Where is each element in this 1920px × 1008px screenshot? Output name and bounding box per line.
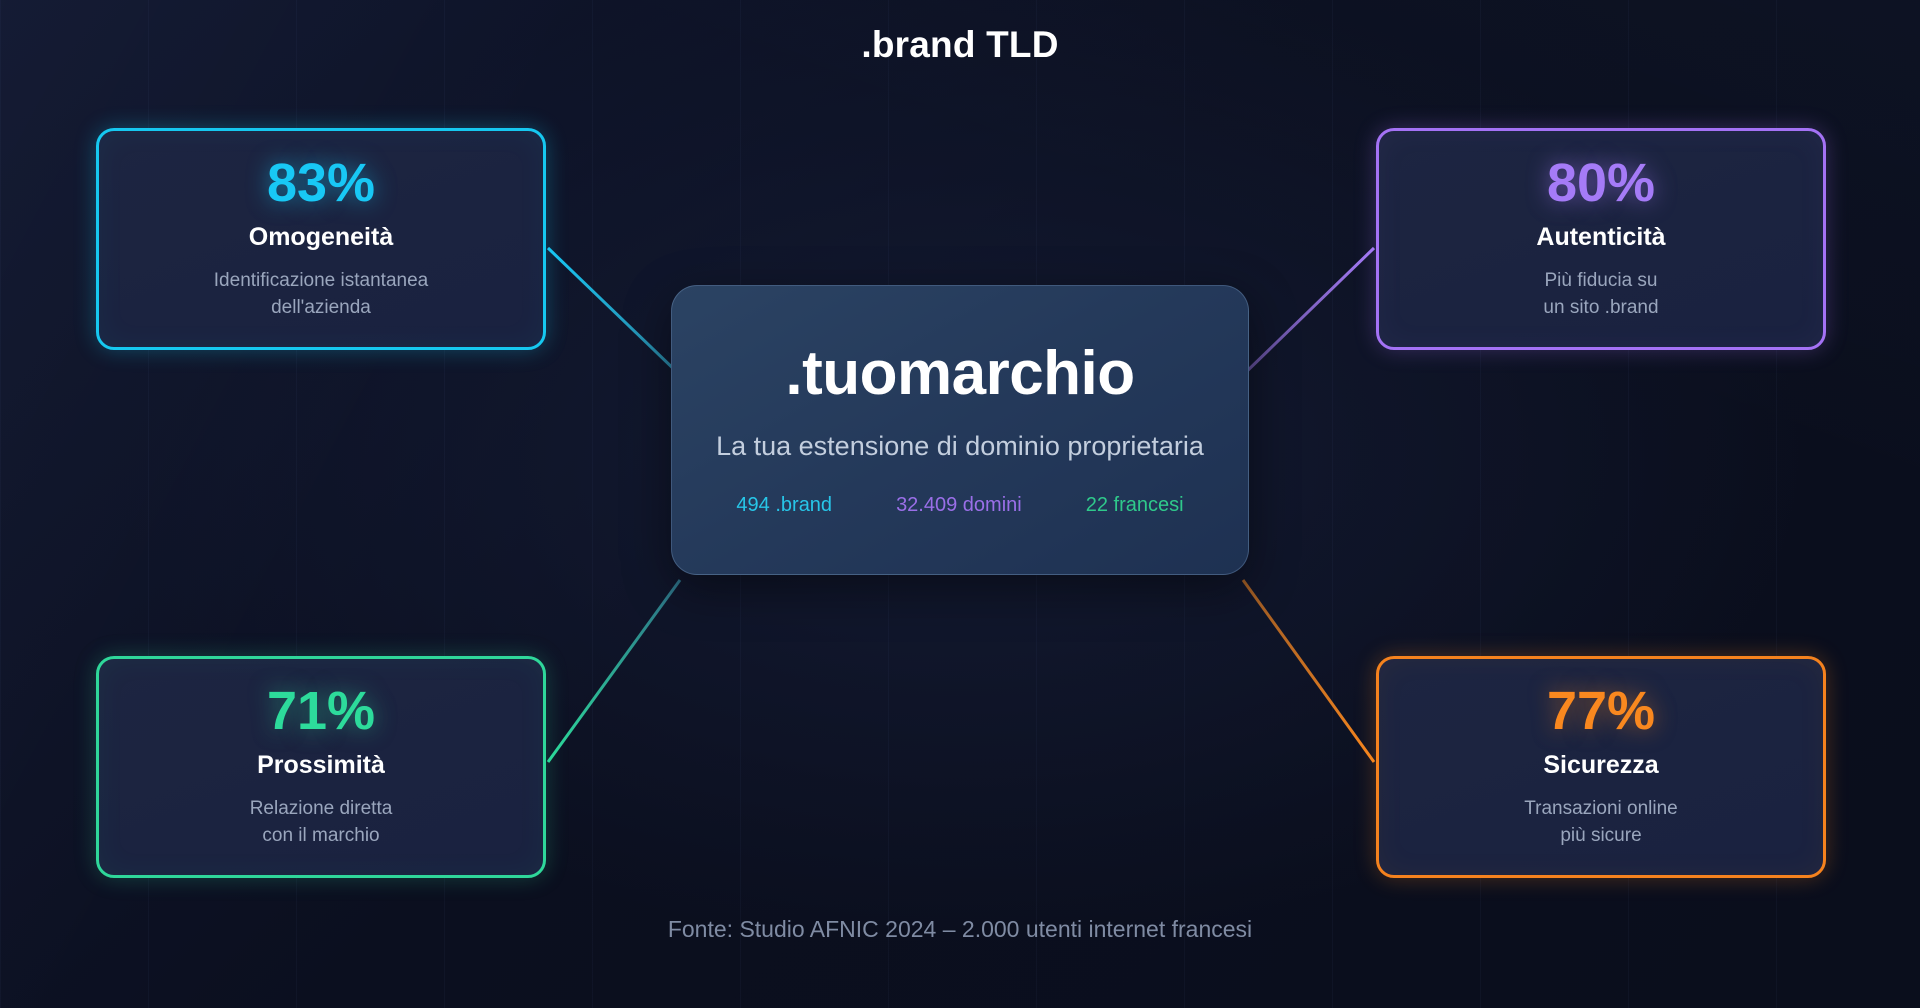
stat-card-omogeneita[interactable]: 83% Omogeneità Identificazione istantane… <box>96 128 546 350</box>
center-stats-row: 494 .brand 32.409 domini 22 francesi <box>736 494 1183 517</box>
stat-label: Sicurezza <box>1543 752 1658 780</box>
stat-description-line2: un sito .brand <box>1543 295 1658 322</box>
connector-omogeneita <box>548 248 680 375</box>
connector-autenticita <box>1243 248 1374 375</box>
center-card[interactable]: .tuomarchio La tua estensione di dominio… <box>671 285 1249 575</box>
stat-percent: 80% <box>1547 156 1655 210</box>
stat-card-prossimita[interactable]: 71% Prossimità Relazione diretta con il … <box>96 656 546 878</box>
stat-percent: 83% <box>267 156 375 210</box>
stat-label: Prossimità <box>257 752 385 780</box>
stat-label: Omogeneità <box>249 224 393 252</box>
source-footer: Fonte: Studio AFNIC 2024 – 2.000 utenti … <box>0 916 1920 943</box>
stat-card-sicurezza[interactable]: 77% Sicurezza Transazioni online più sic… <box>1376 656 1826 878</box>
stat-label: Autenticità <box>1536 224 1665 252</box>
connector-sicurezza <box>1243 580 1374 762</box>
stat-description-line2: dell'azienda <box>214 295 428 322</box>
stat-description: Relazione diretta con il marchio <box>250 796 393 850</box>
stat-percent: 71% <box>267 684 375 738</box>
stat-description: Transazioni online più sicure <box>1524 796 1678 850</box>
stat-description-line2: più sicure <box>1524 823 1678 850</box>
stat-description-line1: Relazione diretta <box>250 796 393 823</box>
stat-description: Identificazione istantanea dell'azienda <box>214 268 428 322</box>
connector-prossimita <box>548 580 680 762</box>
stat-description-line2: con il marchio <box>250 823 393 850</box>
stat-description-line1: Transazioni online <box>1524 796 1678 823</box>
stat-brand-count: 494 .brand <box>736 494 832 517</box>
page-title: .brand TLD <box>0 24 1920 66</box>
stat-domain-count: 32.409 domini <box>896 494 1022 517</box>
stat-description: Più fiducia su un sito .brand <box>1543 268 1658 322</box>
stat-percent: 77% <box>1547 684 1655 738</box>
brand-tagline: La tua estensione di dominio proprietari… <box>716 431 1204 462</box>
brand-name: .tuomarchio <box>785 343 1134 405</box>
stat-card-autenticita[interactable]: 80% Autenticità Più fiducia su un sito .… <box>1376 128 1826 350</box>
stat-description-line1: Più fiducia su <box>1543 268 1658 295</box>
stat-description-line1: Identificazione istantanea <box>214 268 428 295</box>
infographic-canvas: .brand TLD 83% Omogeneità Identificazion… <box>0 0 1920 1008</box>
stat-french-count: 22 francesi <box>1086 494 1184 517</box>
